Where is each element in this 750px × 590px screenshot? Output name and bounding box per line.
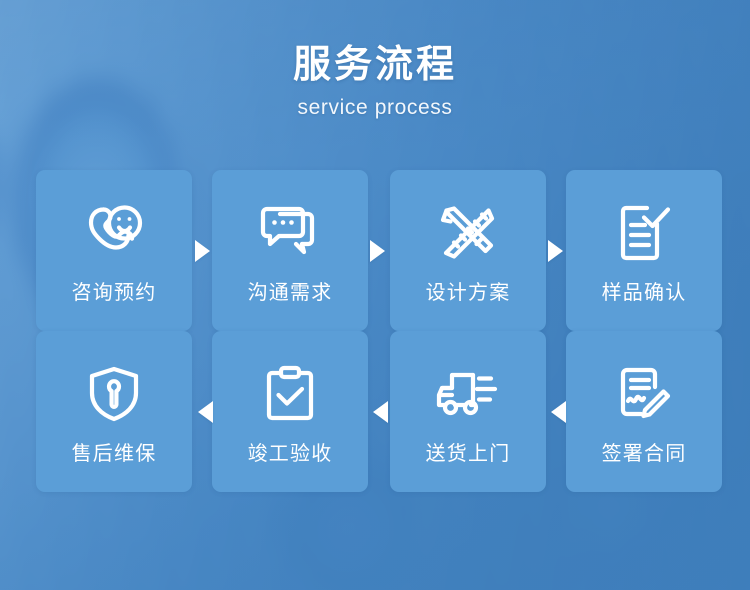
triangle-right-icon	[548, 240, 563, 262]
clipboard-check-icon	[255, 361, 325, 427]
delivery-truck-icon	[433, 361, 503, 427]
triangle-right-icon	[370, 240, 385, 262]
triangle-left-icon	[551, 401, 566, 423]
step-card-consultation[interactable]: 咨询预约	[36, 170, 192, 331]
step-card-door-delivery[interactable]: 送货上门	[390, 331, 546, 492]
service-process-banner: 服务流程 service process	[0, 0, 750, 590]
step-card-label: 咨询预约	[72, 280, 157, 306]
step-card-label: 沟通需求	[248, 280, 333, 306]
step-card-communicate-needs[interactable]: 沟通需求	[212, 170, 368, 331]
triangle-left-icon	[198, 401, 213, 423]
process-row-bottom: 售后维保 竣工验收	[36, 331, 722, 492]
step-card-label: 设计方案	[426, 280, 511, 306]
step-card-completion-acceptance[interactable]: 竣工验收	[212, 331, 368, 492]
step-card-label: 送货上门	[426, 441, 511, 467]
step-card-label: 样品确认	[602, 280, 687, 306]
step-card-label: 售后维保	[72, 441, 157, 467]
phone-smiley-icon	[79, 200, 149, 266]
banner-header: 服务流程 service process	[0, 42, 750, 121]
page-title: 服务流程	[0, 42, 750, 88]
step-card-label: 竣工验收	[248, 441, 333, 467]
step-card-sample-confirmation[interactable]: 样品确认	[566, 170, 722, 331]
contract-signature-icon	[609, 361, 679, 427]
chat-bubbles-icon	[255, 200, 325, 266]
process-step-grid: 咨询预约 沟通需求	[36, 170, 722, 492]
triangle-left-icon	[373, 401, 388, 423]
step-card-after-sales-maintenance[interactable]: 售后维保	[36, 331, 192, 492]
triangle-right-icon	[195, 240, 210, 262]
shield-wrench-icon	[79, 361, 149, 427]
page-subtitle: service process	[0, 95, 750, 121]
pencil-ruler-icon	[433, 200, 503, 266]
process-row-top: 咨询预约 沟通需求	[36, 170, 722, 331]
step-card-design-plan[interactable]: 设计方案	[390, 170, 546, 331]
step-card-sign-contract[interactable]: 签署合同	[566, 331, 722, 492]
document-check-icon	[609, 200, 679, 266]
step-card-label: 签署合同	[602, 441, 687, 467]
